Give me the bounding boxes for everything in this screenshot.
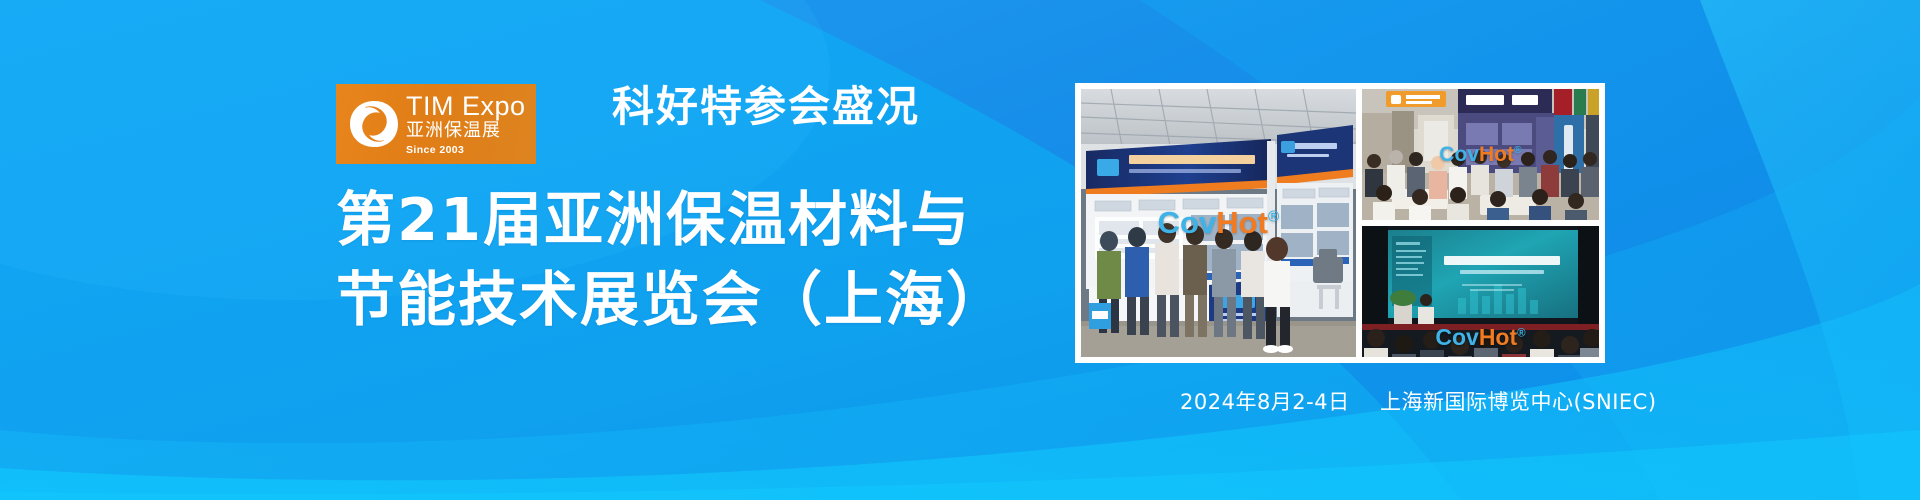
event-date-venue: 2024年8月2-4日 上海新国际博览中心(SNIEC) xyxy=(1180,386,1657,416)
logo-name-cn: 亚洲保温展 xyxy=(406,122,526,140)
event-venue: 上海新国际博览中心(SNIEC) xyxy=(1380,390,1657,414)
photo-right-column: CovHot® xyxy=(1362,89,1599,357)
photo-booth[interactable]: CovHot® xyxy=(1081,89,1356,357)
logo-since: Since 2003 xyxy=(406,145,526,156)
event-date: 2024年8月2-4日 xyxy=(1180,390,1350,414)
kicker-headline: 科好特参会盛况 xyxy=(612,86,920,128)
tim-expo-logo[interactable]: TIM Expo 亚洲保温展 Since 2003 xyxy=(336,84,536,164)
title-line-2: 节能技术展览会（上海） xyxy=(336,260,1056,340)
logo-name-en: TIM Expo xyxy=(406,93,526,120)
title-line-1: 第21届亚洲保温材料与 xyxy=(336,180,1056,260)
photo-forum[interactable]: CovHot® xyxy=(1362,226,1599,357)
page-title: 第21届亚洲保温材料与 节能技术展览会（上海） xyxy=(336,180,1056,340)
tim-expo-swirl-icon xyxy=(348,98,400,150)
photo-hall[interactable]: CovHot® xyxy=(1362,89,1599,220)
expo-banner: TIM Expo 亚洲保温展 Since 2003 科好特参会盛况 第21届亚洲… xyxy=(0,0,1920,500)
photo-collage: CovHot® xyxy=(1075,83,1605,363)
